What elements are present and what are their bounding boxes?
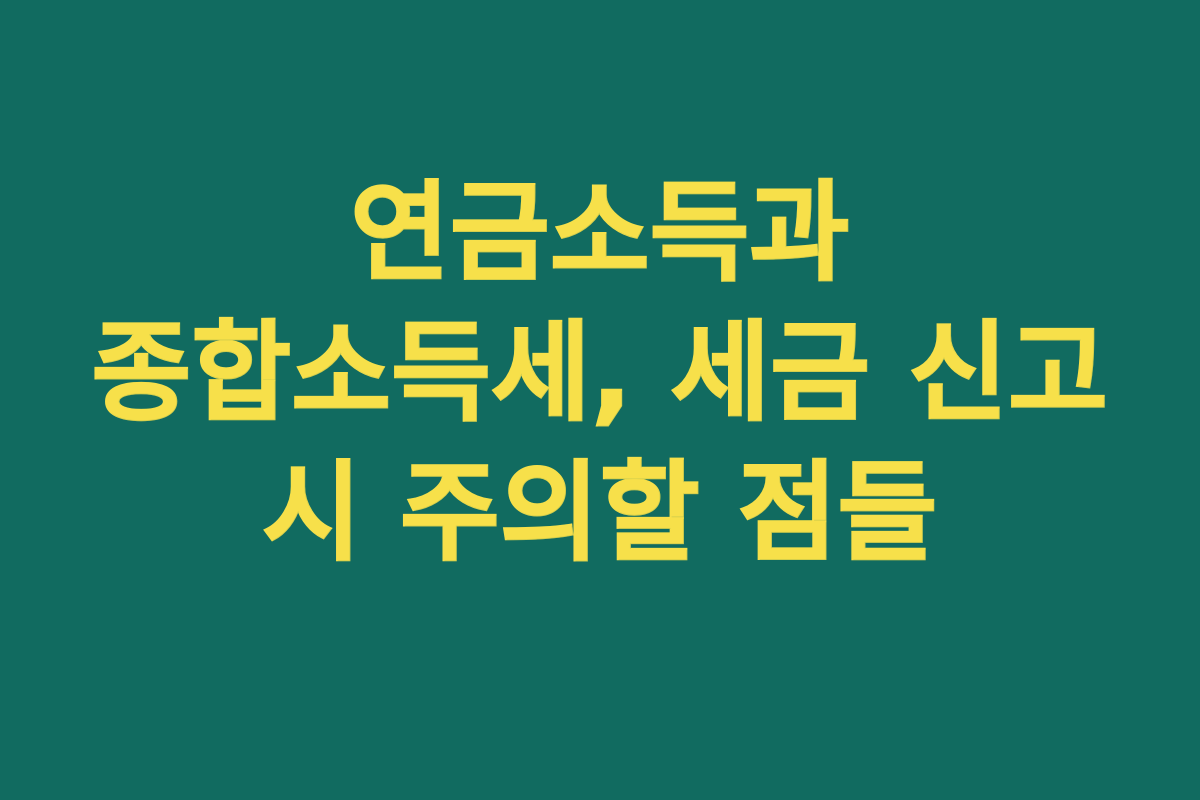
page-title: 연금소득과 종합소득세, 세금 신고 시 주의할 점들 [70, 164, 1130, 584]
title-block: 연금소득과 종합소득세, 세금 신고 시 주의할 점들 [70, 164, 1130, 584]
title-card-canvas: 연금소득과 종합소득세, 세금 신고 시 주의할 점들 [0, 0, 1200, 800]
